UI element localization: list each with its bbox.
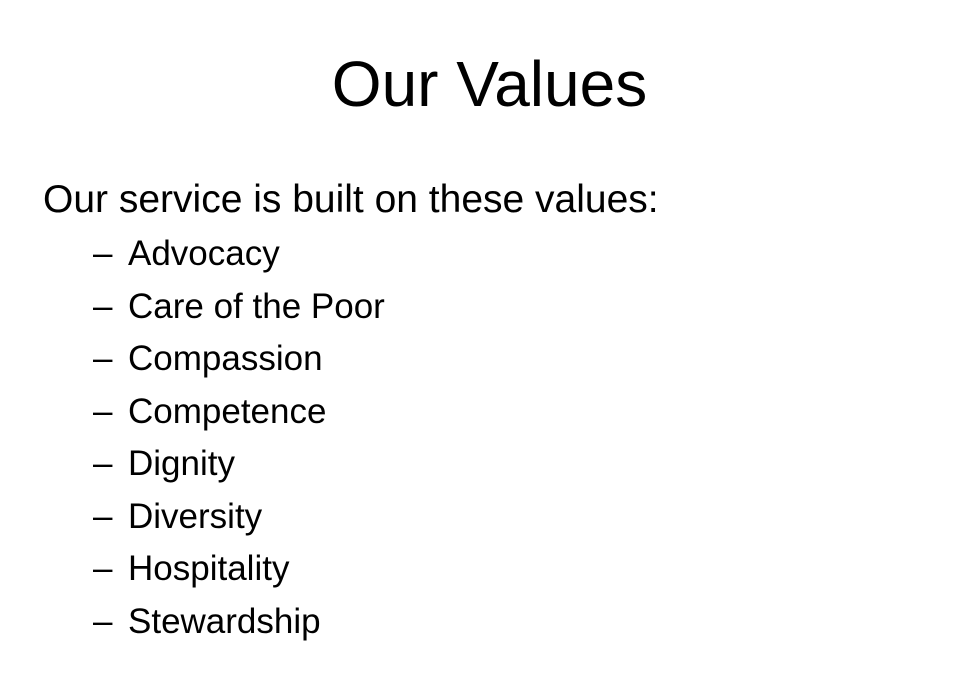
- list-item-label: Diversity: [128, 491, 262, 544]
- en-dash-bullet-icon: –: [93, 386, 117, 439]
- list-item: – Stewardship: [43, 596, 933, 649]
- en-dash-bullet-icon: –: [93, 438, 117, 491]
- presentation-slide: Our Values Our service is built on these…: [0, 0, 979, 696]
- values-list: – Advocacy – Care of the Poor – Compassi…: [43, 228, 933, 648]
- slide-body: Our service is built on these values: – …: [43, 176, 933, 648]
- en-dash-bullet-icon: –: [93, 333, 117, 386]
- list-item-label: Dignity: [128, 438, 235, 491]
- list-item-label: Stewardship: [128, 596, 321, 649]
- list-item: – Hospitality: [43, 543, 933, 596]
- list-item-label: Care of the Poor: [128, 281, 385, 334]
- list-item-label: Competence: [128, 386, 326, 439]
- en-dash-bullet-icon: –: [93, 543, 117, 596]
- list-item: – Advocacy: [43, 228, 933, 281]
- list-item-label: Advocacy: [128, 228, 280, 281]
- en-dash-bullet-icon: –: [93, 228, 117, 281]
- list-item: – Diversity: [43, 491, 933, 544]
- en-dash-bullet-icon: –: [93, 596, 117, 649]
- list-item-label: Compassion: [128, 333, 323, 386]
- list-item: – Compassion: [43, 333, 933, 386]
- list-item: – Competence: [43, 386, 933, 439]
- lead-in-text: Our service is built on these values:: [43, 176, 933, 224]
- page-title: Our Values: [0, 46, 979, 122]
- en-dash-bullet-icon: –: [93, 281, 117, 334]
- list-item-label: Hospitality: [128, 543, 289, 596]
- list-item: – Care of the Poor: [43, 281, 933, 334]
- list-item: – Dignity: [43, 438, 933, 491]
- en-dash-bullet-icon: –: [93, 491, 117, 544]
